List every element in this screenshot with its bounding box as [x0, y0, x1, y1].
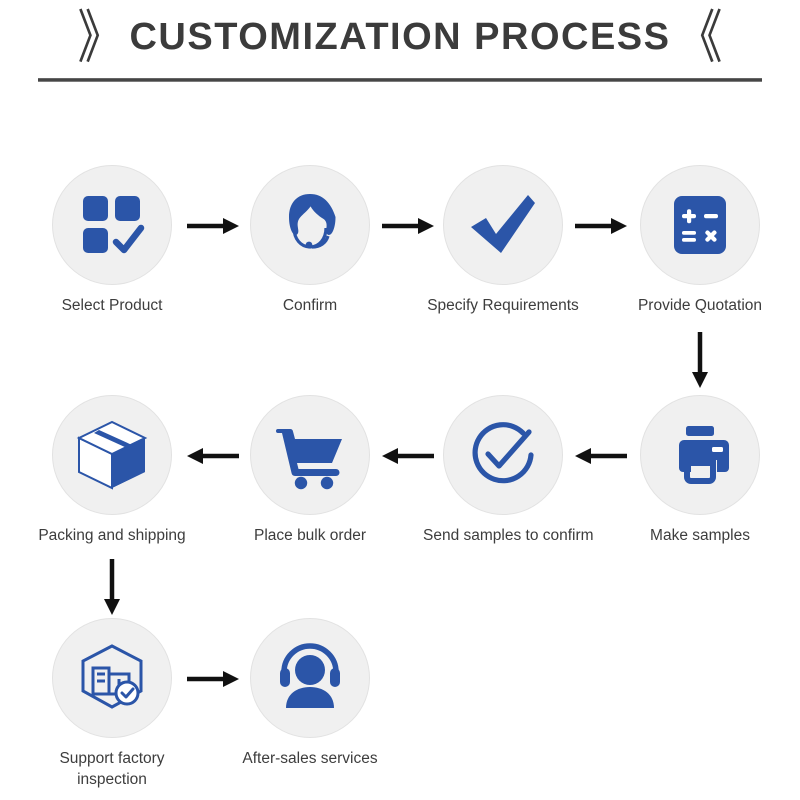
step-icon-circle [250, 395, 370, 515]
step-label: Make samples [620, 525, 780, 546]
step-label: Support factory inspection [32, 748, 192, 791]
package-box-icon [75, 418, 149, 492]
circle-check-icon [465, 417, 541, 493]
step-node-support-factory-inspection[interactable]: Support factory inspection [32, 618, 192, 791]
step-icon-circle [640, 395, 760, 515]
connector-arrow-left [185, 445, 241, 467]
step-node-after-sales-services[interactable]: After-sales services [230, 618, 390, 769]
step-node-specify-requirements[interactable]: Specify Requirements [423, 165, 583, 316]
step-label: Packing and shipping [32, 525, 192, 546]
step-icon-circle [250, 165, 370, 285]
step-label: Confirm [230, 295, 390, 316]
step-label: Provide Quotation [620, 295, 780, 316]
step-label: Send samples to confirm [423, 525, 583, 546]
step-node-provide-quotation[interactable]: Provide Quotation [620, 165, 780, 316]
step-icon-circle [443, 165, 563, 285]
chevron-right-decoration-icon: 》 [77, 8, 123, 66]
headset-agent-icon [272, 187, 348, 263]
title-divider [38, 78, 762, 82]
page-title-text: CUSTOMIZATION PROCESS [129, 16, 670, 59]
step-node-place-bulk-order[interactable]: Place bulk order [230, 395, 390, 546]
step-icon-circle [52, 618, 172, 738]
step-node-packing-and-shipping[interactable]: Packing and shipping [32, 395, 192, 546]
step-icon-circle [640, 165, 760, 285]
calculator-icon [666, 191, 734, 259]
step-label: Select Product [32, 295, 192, 316]
connector-arrow-down [689, 330, 711, 390]
step-label: After-sales services [230, 748, 390, 769]
factory-inspection-icon [75, 641, 149, 715]
step-node-send-samples-to-confirm[interactable]: Send samples to confirm [423, 395, 583, 546]
page-title: 》 CUSTOMIZATION PROCESS 《 [0, 6, 800, 68]
step-node-select-product[interactable]: Select Product [32, 165, 192, 316]
headphones-person-icon [274, 642, 346, 714]
step-icon-circle [52, 165, 172, 285]
step-node-make-samples[interactable]: Make samples [620, 395, 780, 546]
step-label: Specify Requirements [423, 295, 583, 316]
step-node-confirm[interactable]: Confirm [230, 165, 390, 316]
printer-icon [665, 420, 735, 490]
connector-arrow-down [101, 557, 123, 617]
shopping-cart-icon [274, 419, 346, 491]
step-label: Place bulk order [230, 525, 390, 546]
chevron-left-decoration-icon: 《 [677, 8, 723, 66]
page-header: 》 CUSTOMIZATION PROCESS 《 [0, 0, 800, 95]
step-icon-circle [443, 395, 563, 515]
checkmark-icon [465, 187, 541, 263]
step-icon-circle [250, 618, 370, 738]
grid-squares-check-icon [79, 192, 145, 258]
step-icon-circle [52, 395, 172, 515]
